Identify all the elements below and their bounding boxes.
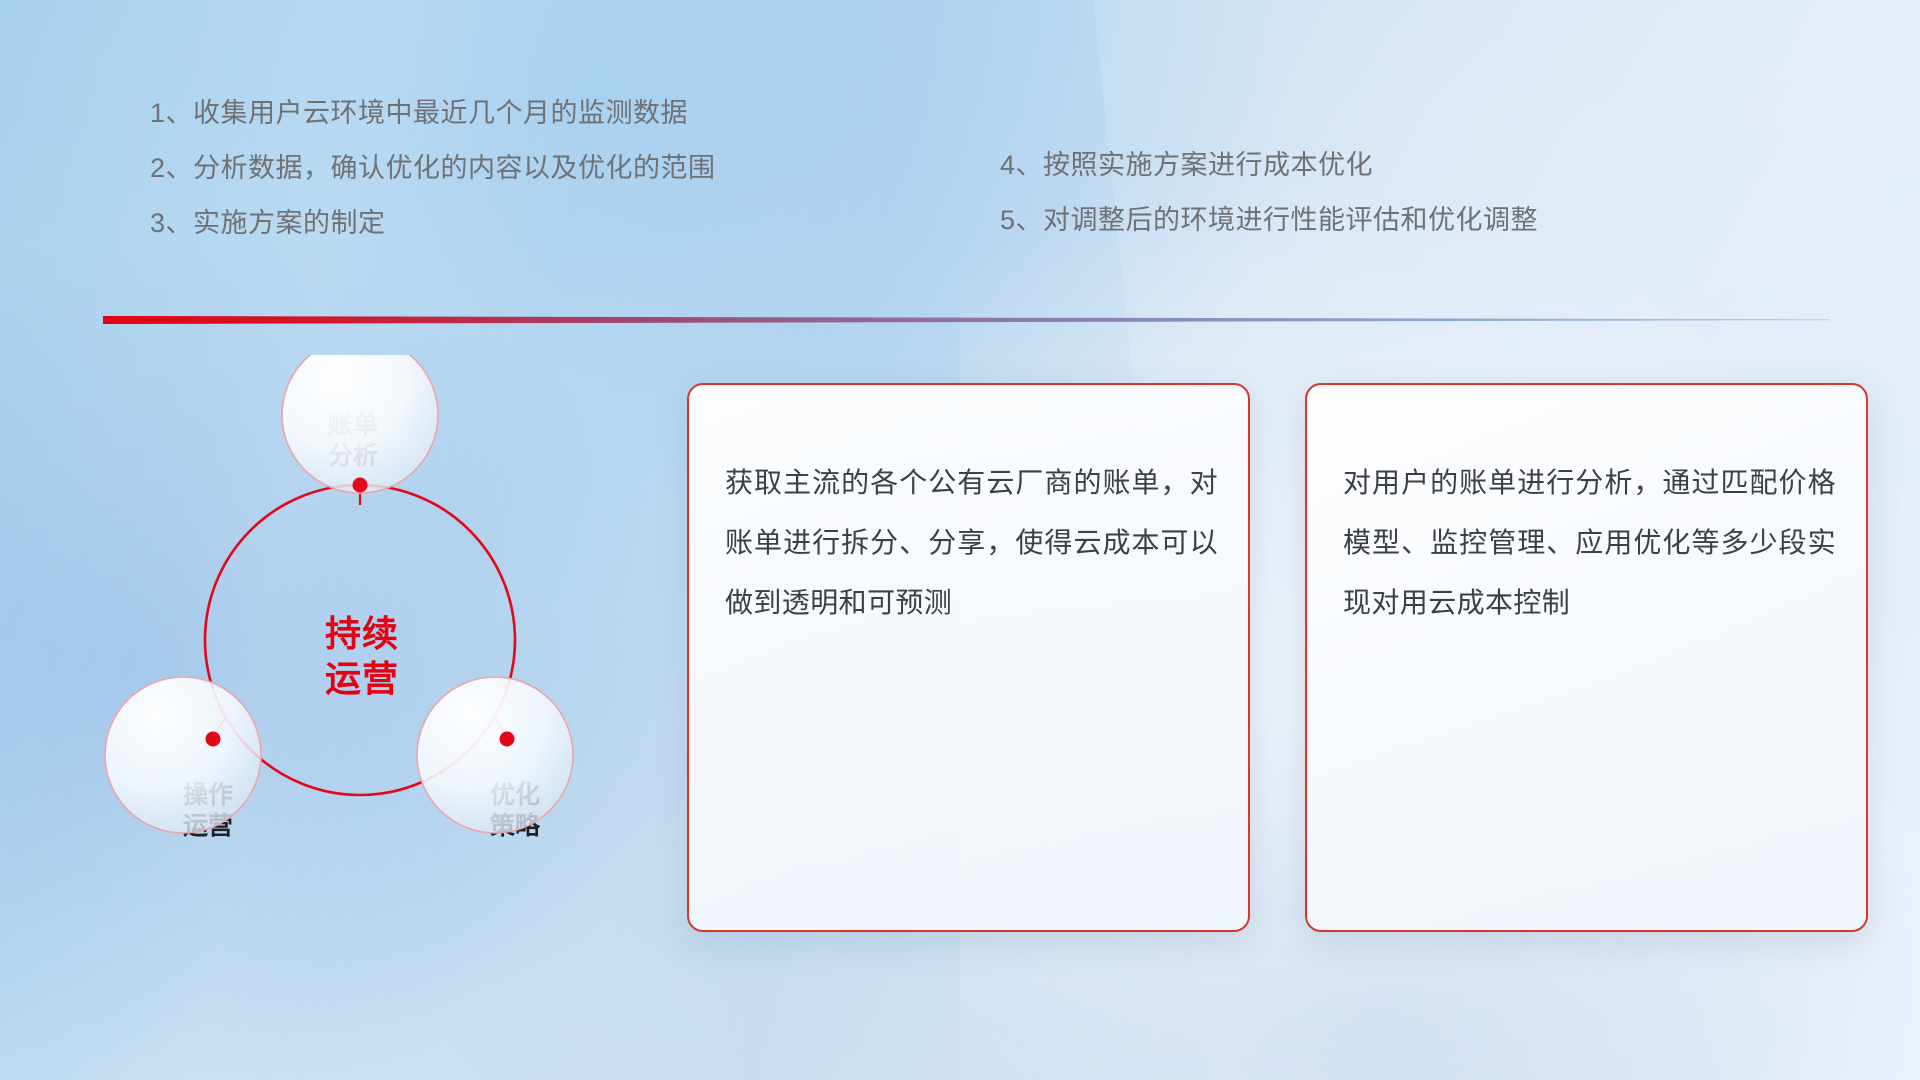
slide-canvas: 1、收集用户云环境中最近几个月的监测数据 2、分析数据，确认优化的内容以及优化的… xyxy=(0,0,1920,1080)
card-multicloud-billing-body: 获取主流的各个公有云厂商的账单，对账单进行拆分、分享，使得云成本可以做到透明和可… xyxy=(725,453,1218,634)
steps-list-right: 4、按照实施方案进行成本优化 5、对调整后的环境进行性能评估和优化调整 xyxy=(1000,152,1538,234)
step-item-5: 5、对调整后的环境进行性能评估和优化调整 xyxy=(1000,207,1538,234)
card-cloud-cost-optimization[interactable]: 对用户的账单进行分析，通过匹配价格模型、监控管理、应用优化等多少段实现对用云成本… xyxy=(1305,383,1868,932)
venn-diagram xyxy=(95,355,655,935)
step-item-4: 4、按照实施方案进行成本优化 xyxy=(1000,152,1538,179)
card-cloud-cost-optimization-body: 对用户的账单进行分析，通过匹配价格模型、监控管理、应用优化等多少段实现对用云成本… xyxy=(1343,453,1836,634)
step-item-3: 3、实施方案的制定 xyxy=(150,210,716,237)
section-divider xyxy=(103,315,1830,324)
step-item-1: 1、收集用户云环境中最近几个月的监测数据 xyxy=(150,100,716,127)
card-multicloud-billing[interactable]: 获取主流的各个公有云厂商的账单，对账单进行拆分、分享，使得云成本可以做到透明和可… xyxy=(687,383,1250,932)
steps-list-left: 1、收集用户云环境中最近几个月的监测数据 2、分析数据，确认优化的内容以及优化的… xyxy=(150,100,716,237)
step-item-2: 2、分析数据，确认优化的内容以及优化的范围 xyxy=(150,155,716,182)
